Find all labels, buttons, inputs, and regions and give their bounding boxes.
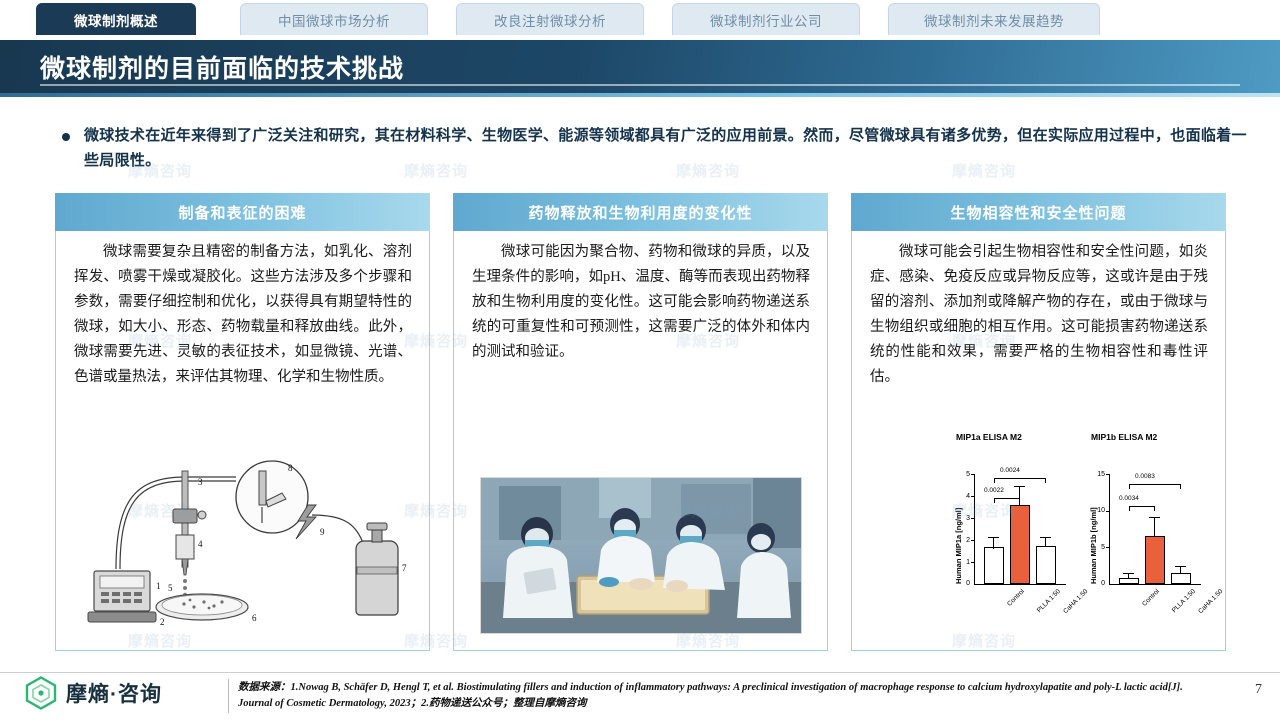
- card-heading: 制备和表征的困难: [55, 193, 430, 231]
- footer-divider: [0, 672, 1280, 673]
- p-value-label: 0.0022: [984, 487, 1004, 494]
- callout-3: 3: [198, 477, 203, 487]
- hexagon-logo-icon: [24, 676, 58, 710]
- y-tick: 0: [1091, 580, 1105, 587]
- x-tick: CaHA 1:50: [1197, 588, 1224, 615]
- card-preparation-characterization: 制备和表征的困难 微球需要复杂且精密的制备方法，如乳化、溶剂挥发、喷雾干燥或凝胶…: [55, 193, 430, 651]
- tab-label: 中国微球市场分析: [278, 10, 390, 30]
- card-heading: 药物释放和生物利用度的变化性: [453, 193, 828, 231]
- x-tick: PLLA 1:50: [1036, 588, 1062, 614]
- bar-control: [984, 547, 1004, 584]
- bar-plla: [1010, 505, 1030, 584]
- card-release-bioavailability: 药物释放和生物利用度的变化性 微球可能因为聚合物、药物和微球的异质，以及生理条件…: [453, 193, 828, 651]
- title-underline: [40, 84, 1240, 86]
- brand-name: 摩熵·咨询: [66, 678, 162, 708]
- y-tick: 5: [1091, 544, 1105, 551]
- y-tick: 15: [1091, 471, 1105, 478]
- y-axis: [1109, 474, 1110, 584]
- intro-text: 微球技术在近年来得到了广泛关注和研究，其在材料科学、生物医学、能源等领域都具有广…: [84, 124, 1247, 174]
- y-tick: 1: [956, 559, 970, 566]
- x-axis: [974, 584, 1066, 585]
- chart-mip1b: MIP1b ELISA M2 Human MIP1b [ng/ml] 15 10…: [1083, 432, 1208, 632]
- source-note: 数据来源：1.Nowag B, Schäfer D, Hengl T, et a…: [238, 680, 1213, 712]
- callout-6: 6: [252, 613, 257, 623]
- callout-9: 9: [320, 527, 325, 537]
- callout-2: 2: [160, 617, 165, 627]
- bar-control: [1119, 578, 1139, 584]
- page-number: 7: [1255, 682, 1262, 698]
- card-body-text: 微球需要复杂且精密的制备方法，如乳化、溶剂挥发、喷雾干燥或凝胶化。这些方法涉及多…: [74, 240, 412, 390]
- chart-title: MIP1a ELISA M2: [956, 432, 1022, 442]
- y-tick: 0: [956, 580, 970, 587]
- source-divider: [228, 679, 229, 713]
- x-tick: Control: [1006, 588, 1026, 608]
- tab-overview[interactable]: 微球制剂概述: [36, 3, 196, 35]
- tab-market-analysis[interactable]: 中国微球市场分析: [240, 3, 428, 35]
- y-axis: [974, 474, 975, 584]
- p-value-label: 0.0083: [1135, 473, 1155, 480]
- elisa-charts: MIP1a ELISA M2 Human MIP1a [ng/ml] 5 4 3…: [948, 432, 1213, 632]
- brand-logo: 摩熵·咨询: [24, 676, 162, 710]
- apparatus-diagram: 1 2 3 4 5 6 7 8 9: [76, 449, 411, 634]
- callout-7: 7: [402, 563, 407, 573]
- card-body-text: 微球可能会引起生物相容性和安全性问题，如炎症、感染、免疫反应或异物反应等，这或许…: [870, 240, 1208, 390]
- bar-plla: [1145, 536, 1165, 584]
- callout-1: 1: [156, 581, 161, 591]
- tab-label: 微球制剂行业公司: [710, 10, 822, 30]
- y-tick: 5: [956, 471, 970, 478]
- lab-photo: [480, 477, 802, 634]
- bar-caha: [1171, 573, 1191, 584]
- tab-label: 改良注射微球分析: [494, 10, 606, 30]
- p-value-label: 0.0024: [1000, 467, 1020, 474]
- x-tick: PLLA 1:50: [1171, 588, 1197, 614]
- y-tick: 2: [956, 537, 970, 544]
- bar-caha: [1036, 546, 1056, 584]
- y-tick: 4: [956, 493, 970, 500]
- callout-5: 5: [168, 583, 173, 593]
- x-tick: Control: [1141, 588, 1161, 608]
- accent-bar: [0, 93, 1280, 97]
- p-value-label: 0.0034: [1119, 495, 1139, 502]
- tab-bar: 微球制剂概述 中国微球市场分析 改良注射微球分析 微球制剂行业公司 微球制剂未来…: [0, 0, 1280, 40]
- y-tick: 3: [956, 515, 970, 522]
- tab-injection-analysis[interactable]: 改良注射微球分析: [456, 3, 644, 35]
- tab-future-trends[interactable]: 微球制剂未来发展趋势: [888, 3, 1100, 35]
- tab-label: 微球制剂未来发展趋势: [924, 10, 1064, 30]
- chart-title: MIP1b ELISA M2: [1091, 432, 1157, 442]
- card-biocompatibility-safety: 生物相容性和安全性问题 微球可能会引起生物相容性和安全性问题，如炎症、感染、免疫…: [851, 193, 1226, 651]
- intro-bullet: 微球技术在近年来得到了广泛关注和研究，其在材料科学、生物医学、能源等领域都具有广…: [62, 124, 1247, 174]
- x-axis: [1109, 584, 1201, 585]
- tab-label: 微球制剂概述: [74, 10, 158, 30]
- bullet-dot-icon: [62, 133, 70, 141]
- callout-4: 4: [198, 539, 203, 549]
- source-text: 数据来源：1.Nowag B, Schäfer D, Hengl T, et a…: [238, 682, 1183, 709]
- card-heading: 生物相容性和安全性问题: [851, 193, 1226, 231]
- card-body-text: 微球可能因为聚合物、药物和微球的异质，以及生理条件的影响，如pH、温度、酶等而表…: [472, 240, 810, 365]
- y-tick: 10: [1091, 507, 1105, 514]
- callout-8: 8: [288, 463, 293, 473]
- page-title-band: 微球制剂的目前面临的技术挑战: [0, 40, 1280, 93]
- chart-mip1a: MIP1a ELISA M2 Human MIP1a [ng/ml] 5 4 3…: [948, 432, 1073, 632]
- page-title: 微球制剂的目前面临的技术挑战: [40, 49, 404, 85]
- tab-industry-companies[interactable]: 微球制剂行业公司: [672, 3, 860, 35]
